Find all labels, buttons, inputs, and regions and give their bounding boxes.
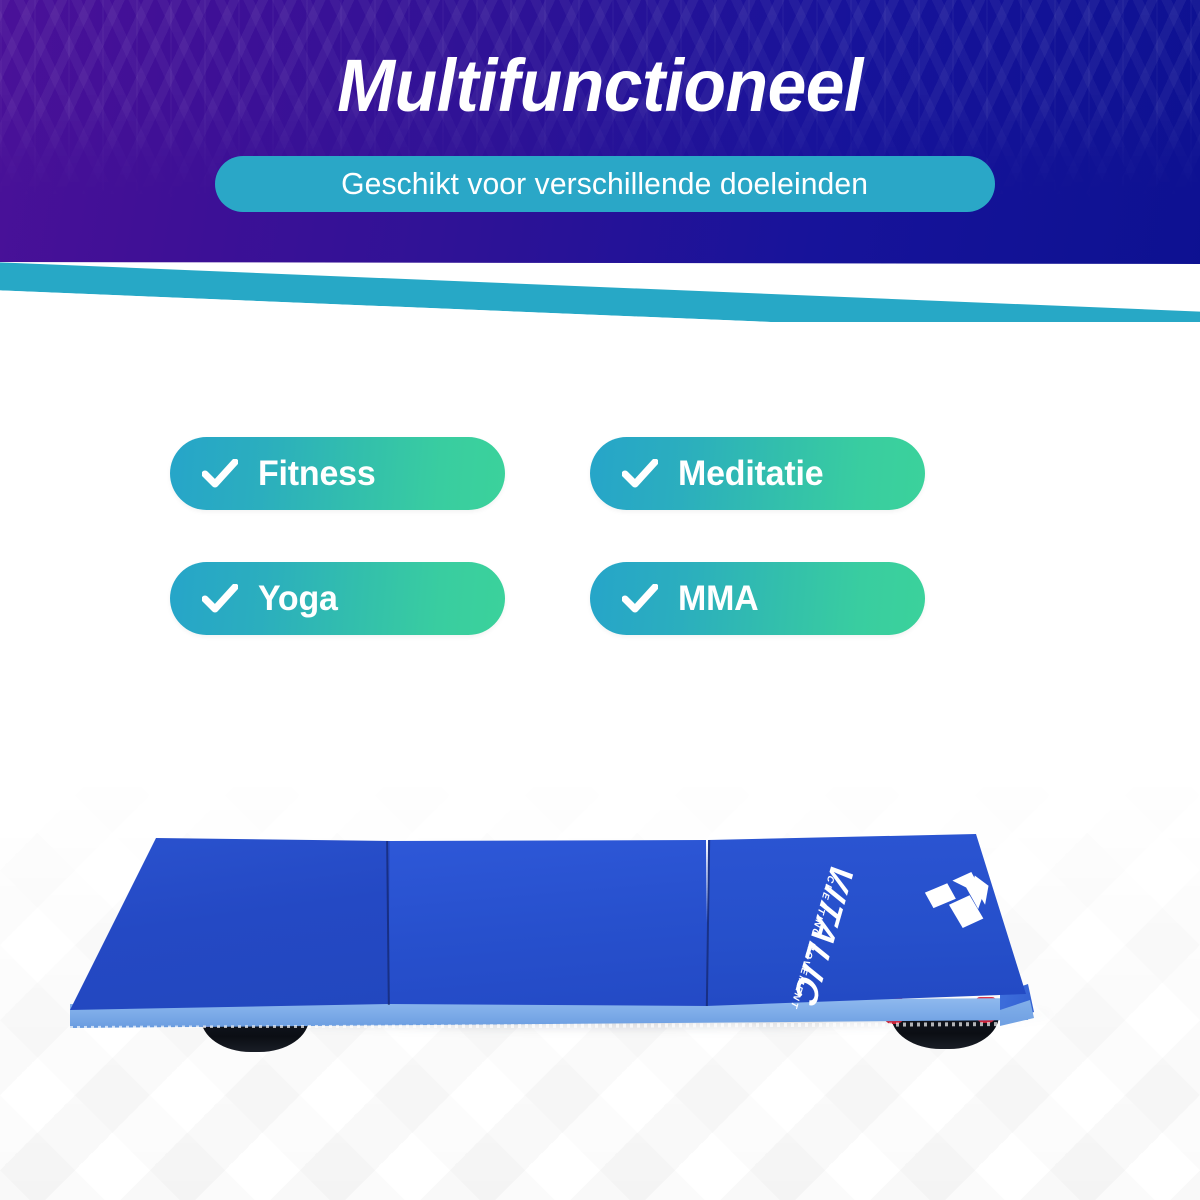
subtitle-banner: Geschikt voor verschillende doeleinden: [215, 156, 995, 212]
check-icon: [622, 584, 658, 614]
mat-panel-middle: [388, 838, 708, 1018]
feature-label: Yoga: [258, 579, 338, 619]
check-icon: [202, 459, 238, 489]
feature-label: Meditatie: [678, 454, 823, 494]
mat-panel-right: [706, 834, 1026, 1018]
feature-label: MMA: [678, 579, 759, 619]
product-banner: Multifunctioneel Geschikt voor verschill…: [0, 0, 1200, 1200]
subtitle-text: Geschikt voor verschillende doeleinden: [342, 166, 869, 202]
feature-pill-fitness[interactable]: Fitness: [170, 437, 505, 510]
product-image: [0, 760, 1200, 1140]
page-title: Multifunctioneel: [36, 44, 1164, 128]
feature-pill-yoga[interactable]: Yoga: [170, 562, 505, 635]
feature-pill-meditatie[interactable]: Meditatie: [590, 437, 925, 510]
header-banner: Multifunctioneel Geschikt voor verschill…: [0, 0, 1200, 322]
check-icon: [202, 584, 238, 614]
feature-label: Fitness: [258, 454, 376, 494]
feature-pill-mma[interactable]: MMA: [590, 562, 925, 635]
mat-panel-left: [70, 838, 390, 1018]
feature-list: Fitness Meditatie Yoga MMA: [170, 437, 930, 635]
check-icon: [622, 459, 658, 489]
header-zigzag-texture: [0, 0, 1200, 262]
